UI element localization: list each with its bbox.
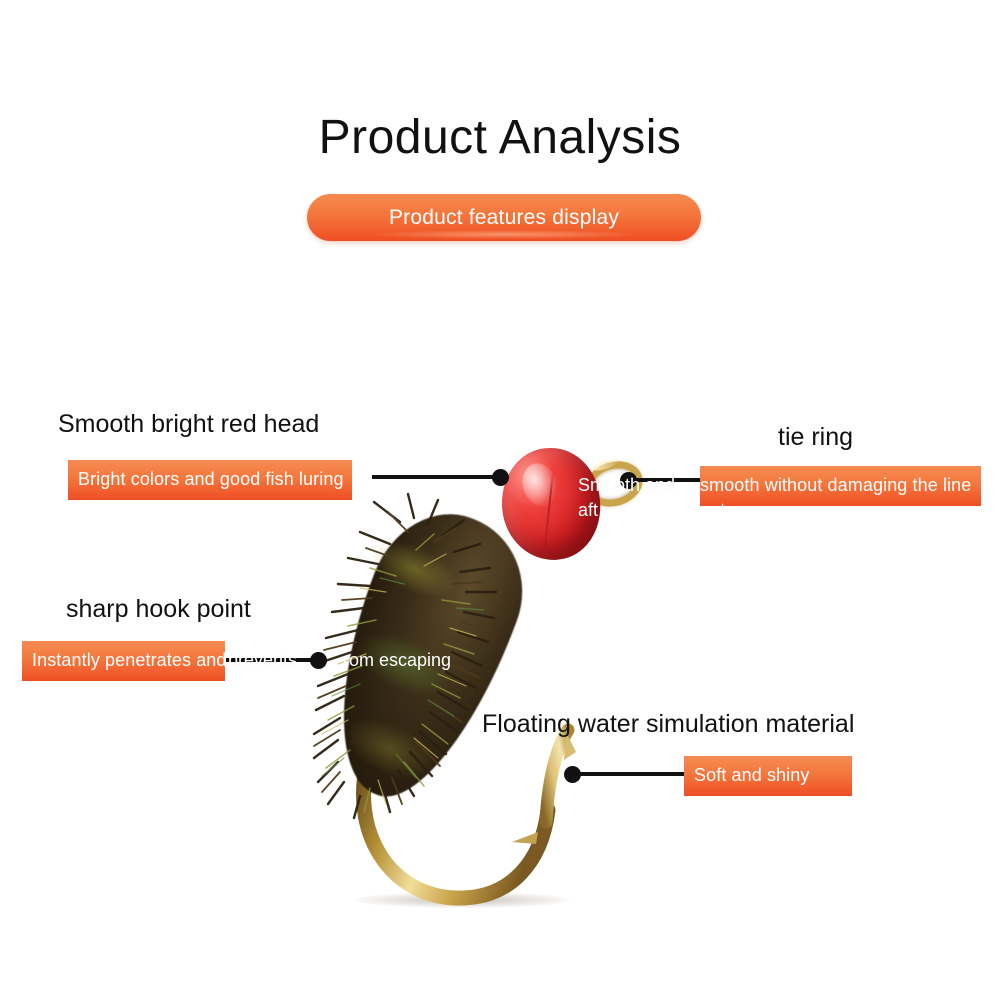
product-analysis-page: Product Analysis Product features displa… bbox=[0, 0, 1000, 1000]
page-title: Product Analysis bbox=[0, 112, 1000, 165]
product-image-fly-lure bbox=[280, 430, 700, 920]
callout-badge-red-head: Bright colors and good fish luring bbox=[68, 460, 352, 500]
callout-badge-hook-point-tail: rom escaping bbox=[343, 648, 451, 673]
callout-badge-tie-ring-line1: smooth without damaging the line bbox=[700, 473, 971, 498]
callout-badge-tie-ring-line2-occluded: aft bbox=[578, 498, 598, 523]
subtitle-pill: Product features display bbox=[307, 194, 701, 241]
callout-badge-tie-ring-line2: ent bbox=[700, 498, 725, 523]
callout-badge-floating-material: Soft and shiny bbox=[684, 756, 852, 796]
subtitle-label: Product features display bbox=[389, 206, 619, 230]
callout-heading-hook-point: sharp hook point bbox=[66, 595, 251, 624]
leader-dot-hook-point bbox=[310, 652, 327, 669]
leader-line-floating-material bbox=[580, 772, 690, 776]
callout-badge-hook-point-overlay: prevents bbox=[228, 648, 297, 673]
callout-badge-hook-point: Instantly penetrates and bbox=[22, 641, 225, 681]
callout-badge-tie-ring: smooth without damaging the line ent bbox=[700, 466, 981, 506]
callout-badge-tie-ring-line1-occluded: Smooth and bbox=[578, 473, 675, 498]
leader-dot-red-head bbox=[492, 469, 509, 486]
leader-line-red-head bbox=[372, 475, 504, 479]
callout-heading-red-head: Smooth bright red head bbox=[58, 410, 319, 439]
callout-heading-tie-ring: tie ring bbox=[778, 423, 853, 452]
leader-dot-floating-material bbox=[564, 766, 581, 783]
callout-heading-floating-material: Floating water simulation material bbox=[482, 710, 854, 739]
